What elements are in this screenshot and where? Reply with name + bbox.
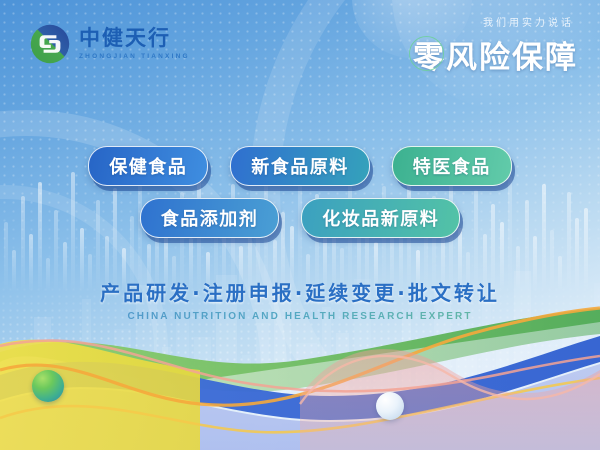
brand-logo[interactable]: 中健天行 ZHONGJIAN TIANXING bbox=[30, 24, 190, 64]
wave-decoration bbox=[0, 300, 600, 450]
white-sphere bbox=[376, 392, 404, 420]
pill-cosmetic-new-ingredient[interactable]: 化妆品新原料 bbox=[301, 198, 460, 238]
slogan-large-text: 零风险保障 bbox=[413, 32, 578, 77]
pill-medical-food[interactable]: 特医食品 bbox=[392, 146, 512, 186]
slogan-ring-accent bbox=[409, 36, 444, 71]
promo-banner: 中健天行 ZHONGJIAN TIANXING 我们用实力说话 零风险保障 保健… bbox=[0, 0, 600, 450]
slogan-block: 我们用实力说话 零风险保障 bbox=[413, 14, 578, 77]
slogan-small-text: 我们用实力说话 bbox=[413, 14, 574, 29]
pill-row-2: 食品添加剂 化妆品新原料 bbox=[0, 198, 600, 238]
brand-name-cn: 中健天行 bbox=[79, 28, 190, 49]
pill-row-1: 保健食品 新食品原料 特医食品 bbox=[0, 146, 600, 186]
pill-new-food-ingredient[interactable]: 新食品原料 bbox=[230, 146, 370, 186]
pill-health-food[interactable]: 保健食品 bbox=[88, 146, 208, 186]
brand-name-en: ZHONGJIAN TIANXING bbox=[79, 54, 190, 61]
pill-food-additive[interactable]: 食品添加剂 bbox=[140, 198, 280, 238]
green-sphere bbox=[32, 370, 64, 402]
zhongjian-emblem-icon bbox=[30, 24, 70, 64]
category-pill-group: 保健食品 新食品原料 特医食品 食品添加剂 化妆品新原料 bbox=[0, 146, 600, 250]
